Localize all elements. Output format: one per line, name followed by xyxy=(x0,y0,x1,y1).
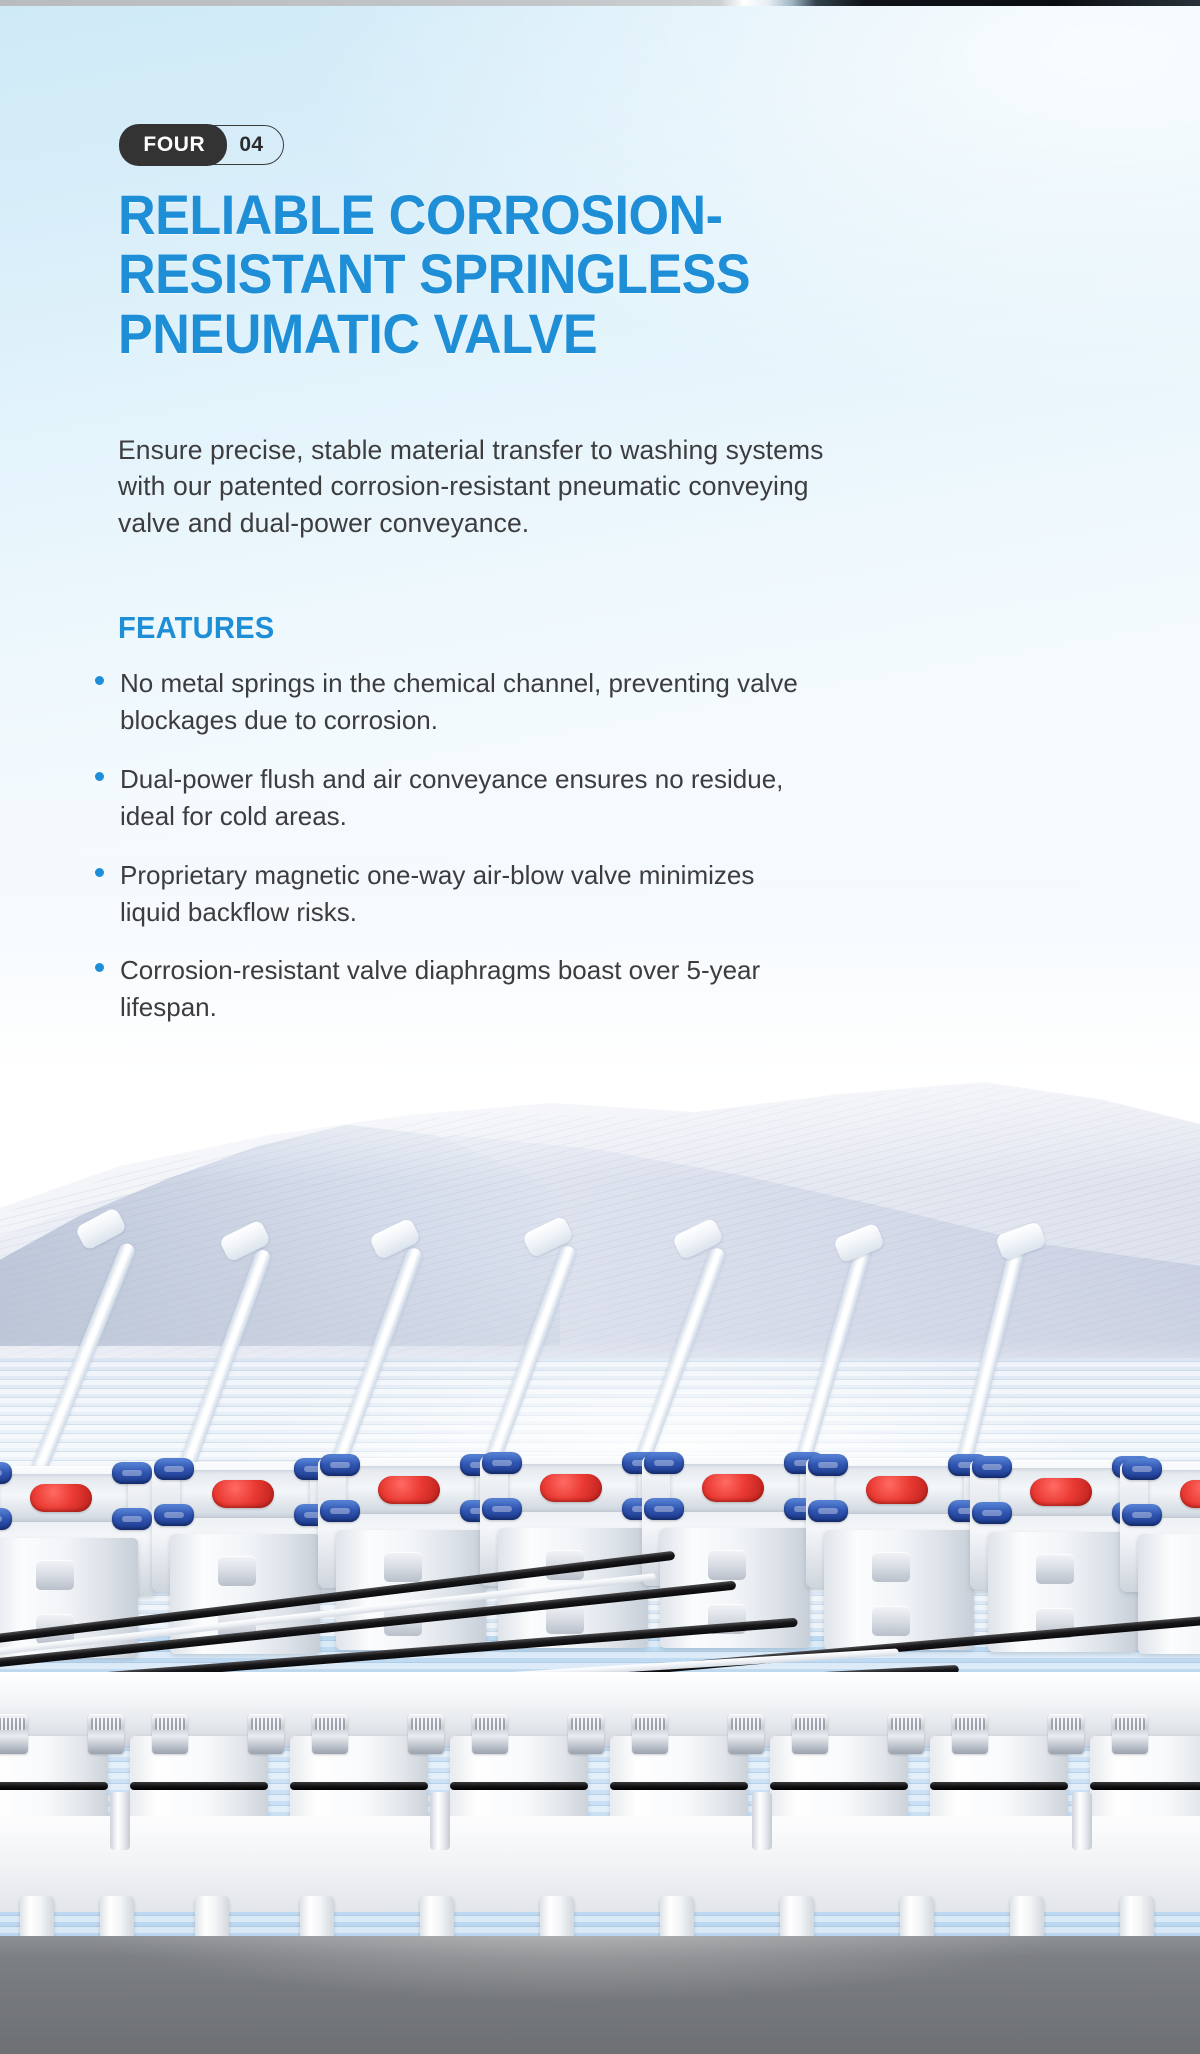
cable-gland-nut xyxy=(1036,1554,1074,1584)
manifold-knob xyxy=(408,1714,444,1754)
valve-red-cap xyxy=(1030,1478,1092,1506)
manifold-knob xyxy=(1112,1714,1148,1754)
bullet-dot-icon xyxy=(95,772,104,781)
manifold-clip xyxy=(110,1792,130,1850)
page-title-line-3: PNEUMATIC VALVE xyxy=(118,304,955,363)
o-ring-seal xyxy=(770,1782,908,1790)
feature-text-line-1: Proprietary magnetic one-way air-blow va… xyxy=(120,857,1010,894)
cable-gland-nut xyxy=(36,1560,74,1590)
manifold-knob xyxy=(792,1714,828,1754)
intro-line-2: with our patented corrosion-resistant pn… xyxy=(118,468,998,504)
blue-fitting xyxy=(0,1508,12,1530)
product-photo xyxy=(0,1076,1200,2054)
supply-tube xyxy=(478,1244,577,1481)
blue-fitting xyxy=(154,1504,194,1526)
blue-fitting xyxy=(1122,1504,1162,1526)
manifold-knob xyxy=(88,1714,124,1754)
feature-item: No metal springs in the chemical channel… xyxy=(90,665,1010,739)
supply-tube xyxy=(175,1248,272,1479)
bullet-dot-icon xyxy=(95,868,104,877)
intro-line-1: Ensure precise, stable material transfer… xyxy=(118,432,998,468)
manifold-clip xyxy=(1072,1792,1092,1850)
manifold-knob xyxy=(152,1714,188,1754)
valve-red-cap xyxy=(866,1476,928,1504)
badge-number: 04 xyxy=(227,126,283,164)
manifold-knob xyxy=(312,1714,348,1754)
feature-item: Dual-power flush and air conveyance ensu… xyxy=(90,761,1010,835)
valve-red-cap xyxy=(30,1484,92,1512)
cable-gland-nut xyxy=(872,1552,910,1582)
feature-text-line-2: ideal for cold areas. xyxy=(120,798,1010,835)
manifold-clip xyxy=(752,1792,772,1850)
blue-fitting xyxy=(154,1458,194,1480)
supply-tube xyxy=(628,1246,726,1481)
features-list: No metal springs in the chemical channel… xyxy=(90,665,1010,1048)
o-ring-seal xyxy=(0,1782,108,1790)
blue-fitting xyxy=(1122,1458,1162,1480)
blue-fitting xyxy=(320,1500,360,1522)
valve-red-cap xyxy=(378,1476,440,1504)
valve-body xyxy=(824,1530,974,1650)
blue-fitting xyxy=(320,1454,360,1476)
feature-item: Proprietary magnetic one-way air-blow va… xyxy=(90,857,1010,931)
badge-word: FOUR xyxy=(119,124,227,165)
supply-tube xyxy=(29,1241,137,1479)
o-ring-seal xyxy=(130,1782,268,1790)
intro-paragraph: Ensure precise, stable material transfer… xyxy=(118,432,998,541)
blue-fitting xyxy=(972,1502,1012,1524)
manifold-clip xyxy=(430,1792,450,1850)
page-title-line-2: RESISTANT SPRINGLESS xyxy=(118,244,955,303)
cable-gland-nut xyxy=(384,1552,422,1582)
product-feature-page: FOUR 04 RELIABLE CORROSION- RESISTANT SP… xyxy=(0,0,1200,2054)
manifold-knob xyxy=(472,1714,508,1754)
feature-text-line-1: Dual-power flush and air conveyance ensu… xyxy=(120,761,1010,798)
page-title-line-1: RELIABLE CORROSION- xyxy=(118,185,955,244)
supply-tube xyxy=(952,1241,1026,1480)
valve-red-cap xyxy=(702,1474,764,1502)
manifold-knob xyxy=(248,1714,284,1754)
blue-fitting xyxy=(482,1498,522,1520)
cable-gland-nut xyxy=(218,1556,256,1586)
valve-assembly xyxy=(0,1076,1200,2054)
supply-tube xyxy=(325,1246,423,1481)
blue-fitting xyxy=(112,1462,152,1484)
blue-fitting xyxy=(644,1498,684,1520)
blue-fitting xyxy=(112,1508,152,1530)
section-number-badge: FOUR 04 xyxy=(120,125,284,165)
valve-red-cap xyxy=(1180,1480,1200,1508)
o-ring-seal xyxy=(290,1782,428,1790)
feature-text-line-1: No metal springs in the chemical channel… xyxy=(120,665,1010,702)
valve-red-cap xyxy=(212,1480,274,1508)
intro-line-3: valve and dual-power conveyance. xyxy=(118,505,998,541)
cable-gland-nut xyxy=(872,1606,910,1636)
bullet-dot-icon xyxy=(95,963,104,972)
blue-fitting xyxy=(482,1452,522,1474)
feature-text-line-2: lifespan. xyxy=(120,989,1010,1026)
bullet-dot-icon xyxy=(95,676,104,685)
feature-text-line-2: liquid backflow risks. xyxy=(120,894,1010,931)
features-heading: FEATURES xyxy=(118,610,274,646)
feature-text-line-2: blockages due to corrosion. xyxy=(120,702,1010,739)
feature-item: Corrosion-resistant valve diaphragms boa… xyxy=(90,952,1010,1026)
page-title: RELIABLE CORROSION- RESISTANT SPRINGLESS… xyxy=(118,185,955,363)
feature-text-line-1: Corrosion-resistant valve diaphragms boa… xyxy=(120,952,1010,989)
cable-gland-nut xyxy=(708,1550,746,1580)
floor-reflection xyxy=(0,1936,1200,2054)
supply-tube xyxy=(790,1245,872,1480)
manifold-knob xyxy=(728,1714,764,1754)
manifold-knob xyxy=(1048,1714,1084,1754)
manifold-knob xyxy=(632,1714,668,1754)
manifold-knob xyxy=(888,1714,924,1754)
blue-fitting xyxy=(808,1454,848,1476)
valve-red-cap xyxy=(540,1474,602,1502)
o-ring-seal xyxy=(1090,1782,1200,1790)
blue-fitting xyxy=(808,1500,848,1522)
o-ring-seal xyxy=(930,1782,1068,1790)
tube-connector xyxy=(75,1207,128,1252)
valve-body xyxy=(1138,1534,1200,1654)
manifold-knob xyxy=(952,1714,988,1754)
blue-fitting xyxy=(972,1456,1012,1478)
manifold-knob xyxy=(0,1714,28,1754)
o-ring-seal xyxy=(610,1782,748,1790)
manifold-knob xyxy=(568,1714,604,1754)
blue-fitting xyxy=(644,1452,684,1474)
previous-slide-sliver xyxy=(0,0,1200,6)
o-ring-seal xyxy=(450,1782,588,1790)
